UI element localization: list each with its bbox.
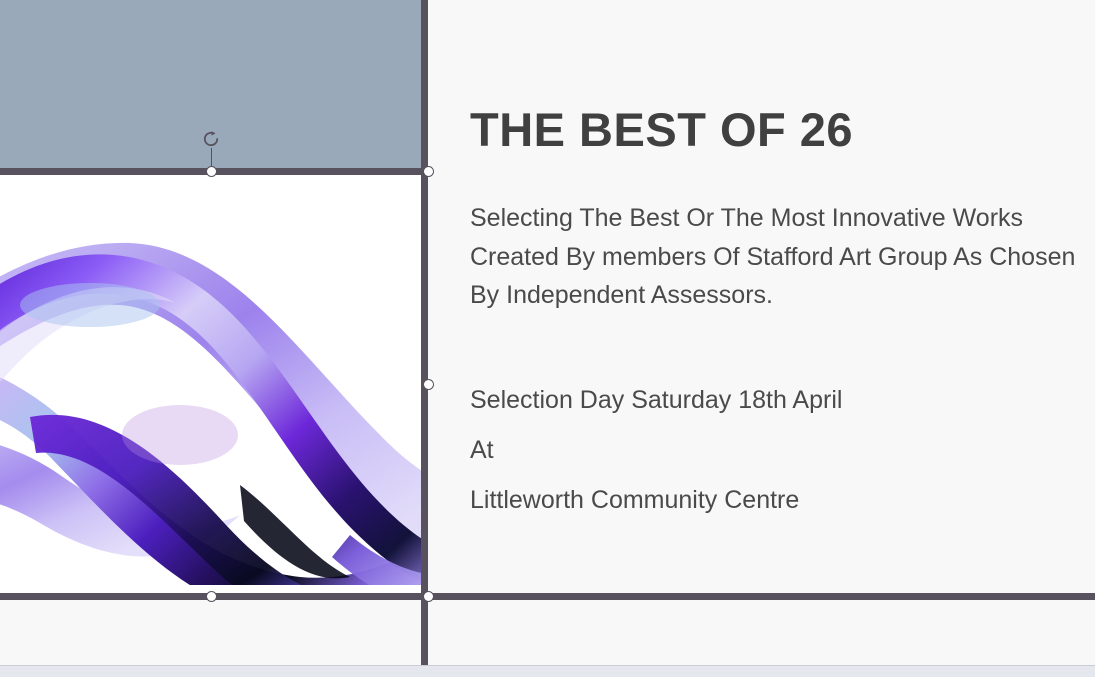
bottom-status-band <box>0 665 1095 677</box>
handle-middle-right[interactable] <box>423 379 434 390</box>
detail-line-date: Selection Day Saturday 18th April <box>470 375 1070 425</box>
handle-top-center[interactable] <box>206 166 217 177</box>
handle-top-right[interactable] <box>423 166 434 177</box>
handle-bottom-center[interactable] <box>206 591 217 602</box>
handle-bottom-right[interactable] <box>423 591 434 602</box>
lower-placeholder-region[interactable] <box>0 603 422 665</box>
slide-lede-paragraph[interactable]: Selecting The Best Or The Most Innovativ… <box>470 199 1095 315</box>
slide-headline[interactable]: THE BEST OF 26 <box>470 102 853 158</box>
detail-line-venue: Littleworth Community Centre <box>470 475 1070 525</box>
presentation-canvas: THE BEST OF 26 Selecting The Best Or The… <box>0 0 1095 677</box>
rotate-icon[interactable] <box>200 128 222 150</box>
selection-edge-bottom[interactable] <box>0 593 1095 600</box>
slide-details-block[interactable]: Selection Day Saturday 18th April At Lit… <box>470 375 1070 525</box>
slide-surface[interactable]: THE BEST OF 26 Selecting The Best Or The… <box>0 0 1095 665</box>
picture-frame[interactable] <box>0 175 422 596</box>
selection-edge-right[interactable] <box>421 0 428 665</box>
abstract-purple-wave-ribbon <box>0 185 422 585</box>
detail-line-at: At <box>470 425 1070 475</box>
